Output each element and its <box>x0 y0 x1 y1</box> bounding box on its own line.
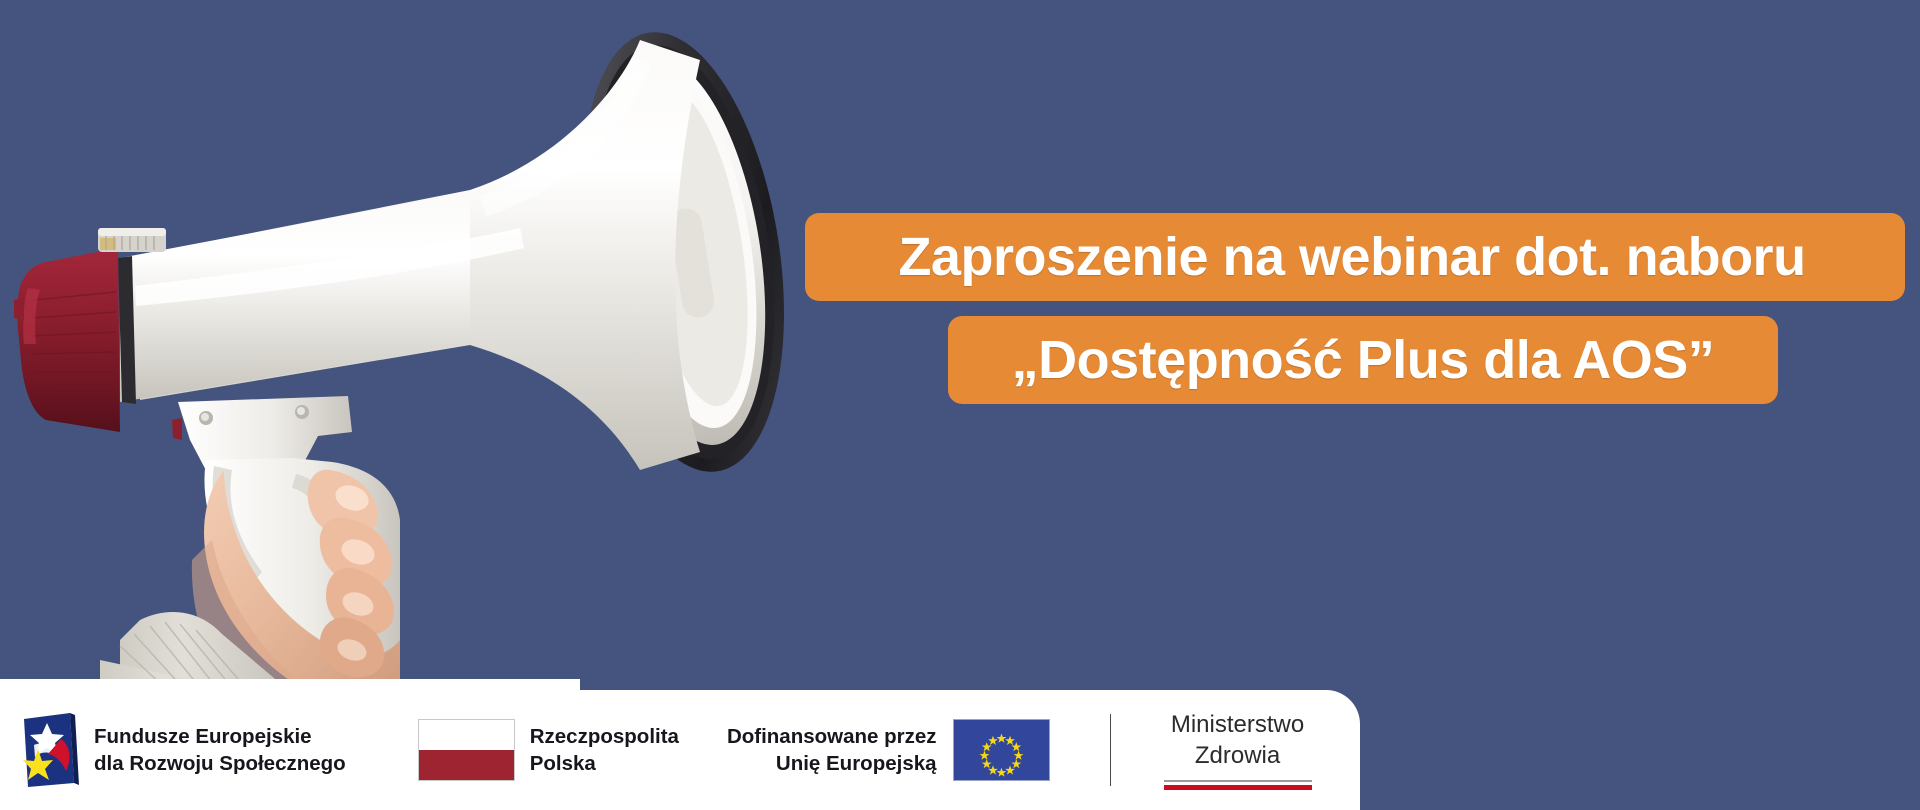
logo-rzeczpospolita-polska: Rzeczpospolita Polska <box>418 690 679 810</box>
rp-logo-text: Rzeczpospolita Polska <box>530 723 679 778</box>
title-banner-line2: „Dostępność Plus dla AOS” <box>948 316 1778 404</box>
fe-logo-text: Fundusze Europejskie dla Rozwoju Społecz… <box>94 723 346 778</box>
title-line-1: Zaproszenie na webinar dot. naboru <box>898 230 1805 284</box>
footer-logo-strip: Fundusze Europejskie dla Rozwoju Społecz… <box>0 690 1400 810</box>
mz-logo-line2: Zdrowia <box>1195 741 1280 771</box>
fe-logo-line1: Fundusze Europejskie <box>94 723 346 750</box>
logo-unia-europejska: Dofinansowane przez Unię Europejską <box>727 690 1050 810</box>
flag-stripe-white <box>419 720 514 750</box>
poster-canvas: Zaproszenie na webinar dot. naboru „Dost… <box>0 0 1920 810</box>
eu-flag-icon <box>953 719 1050 781</box>
mz-logo-line1: Ministerstwo <box>1171 710 1304 740</box>
logo-fundusze-europejskie: Fundusze Europejskie dla Rozwoju Społecz… <box>18 690 346 810</box>
mz-rule-gray <box>1164 780 1312 782</box>
polish-flag-icon <box>418 719 515 781</box>
title-line-2: „Dostępność Plus dla AOS” <box>1012 333 1715 387</box>
mz-rule-red <box>1164 785 1312 790</box>
title-banner-line1: Zaproszenie na webinar dot. naboru <box>805 213 1905 301</box>
fe-flag-stars-icon <box>18 711 80 789</box>
footer-divider <box>1110 714 1111 786</box>
eu-logo-line1: Dofinansowane przez <box>727 723 937 750</box>
rp-logo-line2: Polska <box>530 750 679 777</box>
rp-logo-line1: Rzeczpospolita <box>530 723 679 750</box>
megaphone-image <box>0 0 790 700</box>
eu-logo-text: Dofinansowane przez Unię Europejską <box>727 723 937 778</box>
eu-logo-line2: Unię Europejską <box>727 750 937 777</box>
fe-logo-line2: dla Rozwoju Społecznego <box>94 750 346 777</box>
logo-ministerstwo-zdrowia: Ministerstwo Zdrowia <box>1164 690 1312 810</box>
flag-stripe-red <box>419 750 514 780</box>
